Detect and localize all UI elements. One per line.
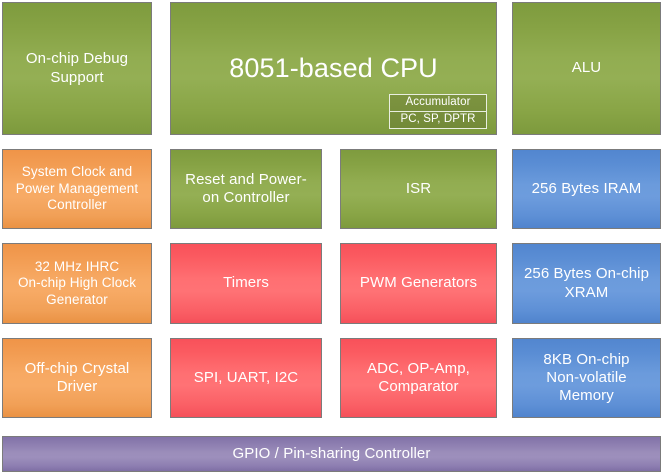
block-reset-and-power-on-controller: Reset and Power- on Controller (170, 149, 322, 229)
block-isr: ISR (340, 149, 497, 229)
block-label-iram: 256 Bytes IRAM (519, 180, 654, 198)
cpu-register-pointers: PC, SP, DPTR (390, 112, 486, 128)
block-pwm-generators: PWM Generators (340, 243, 497, 324)
block-label-reset-and-power-on-controller: Reset and Power- on Controller (177, 171, 315, 208)
block-label-system-clock-power-management-controller: System Clock and Power Management Contro… (9, 164, 145, 213)
block-off-chip-crystal-driver: Off-chip Crystal Driver (2, 338, 152, 418)
block-system-clock-power-management-controller: System Clock and Power Management Contro… (2, 149, 152, 229)
block-label-gpio-pin-sharing-controller: GPIO / Pin-sharing Controller (9, 445, 654, 463)
block-iram: 256 Bytes IRAM (512, 149, 661, 229)
block-label-on-chip-debug-support: On-chip Debug Support (9, 50, 145, 87)
block-label-timers: Timers (177, 274, 315, 292)
block-label-pwm-generators: PWM Generators (347, 274, 490, 292)
block-xram: 256 Bytes On-chip XRAM (512, 243, 661, 324)
block-alu: ALU (512, 2, 661, 135)
block-label-ihrc-clock-generator: 32 MHz IHRC On-chip High Clock Generator (9, 259, 145, 308)
block-diagram: On-chip Debug Support8051-based CPUAccum… (0, 0, 663, 474)
block-label-spi-uart-i2c: SPI, UART, I2C (177, 369, 315, 387)
block-label-xram: 256 Bytes On-chip XRAM (519, 265, 654, 302)
block-label-non-volatile-memory: 8KB On-chip Non-volatile Memory (519, 351, 654, 406)
block-cpu: 8051-based CPUAccumulatorPC, SP, DPTR (170, 2, 497, 135)
cpu-register-accumulator: Accumulator (390, 95, 486, 112)
block-non-volatile-memory: 8KB On-chip Non-volatile Memory (512, 338, 661, 418)
block-label-adc-opamp-comparator: ADC, OP-Amp, Comparator (347, 360, 490, 397)
cpu-inner: 8051-based CPUAccumulatorPC, SP, DPTR (177, 5, 490, 132)
block-gpio-pin-sharing-controller: GPIO / Pin-sharing Controller (2, 436, 661, 472)
block-on-chip-debug-support: On-chip Debug Support (2, 2, 152, 135)
block-timers: Timers (170, 243, 322, 324)
block-label-alu: ALU (519, 59, 654, 77)
block-label-off-chip-crystal-driver: Off-chip Crystal Driver (9, 360, 145, 397)
block-adc-opamp-comparator: ADC, OP-Amp, Comparator (340, 338, 497, 418)
block-ihrc-clock-generator: 32 MHz IHRC On-chip High Clock Generator (2, 243, 152, 324)
cpu-register-group: AccumulatorPC, SP, DPTR (389, 94, 487, 129)
block-label-cpu: 8051-based CPU (177, 52, 490, 85)
block-label-isr: ISR (347, 180, 490, 198)
block-spi-uart-i2c: SPI, UART, I2C (170, 338, 322, 418)
